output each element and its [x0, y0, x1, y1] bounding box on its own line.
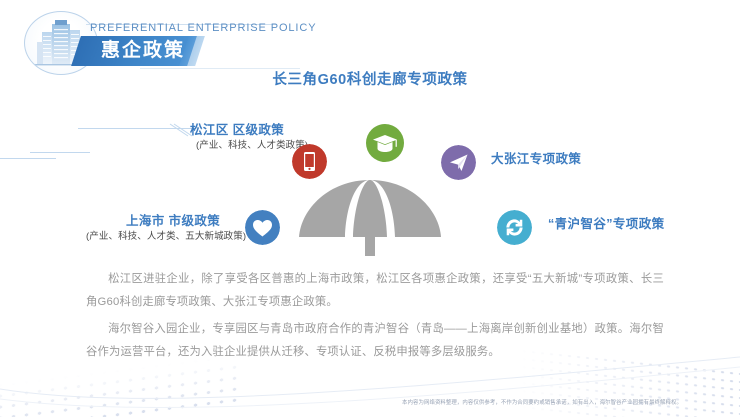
body-paragraph-2: 海尔智谷入园企业，专享园区与青岛市政府合作的青沪智谷（青岛——上海离岸创新创业基…: [86, 318, 664, 364]
decor-line-3: [0, 158, 56, 159]
body-paragraph-1-text: 松江区进驻企业，除了享受各区普惠的上海市政策，松江区各项惠企政策，还享受“五大新…: [86, 273, 664, 308]
node-qinghu-title: “青沪智谷”专项政策: [548, 213, 665, 232]
header-english-title: PREFERENTIAL ENTERPRISE POLICY: [90, 22, 316, 34]
node-shanghai-subtitle: (产业、科技、人才类、五大新城政策): [86, 228, 246, 242]
decor-line-2: [30, 152, 90, 153]
refresh-cycle-icon[interactable]: [497, 210, 532, 245]
mobile-phone-icon[interactable]: [292, 144, 327, 179]
slide-header: PREFERENTIAL ENTERPRISE POLICY 惠企政策: [0, 0, 740, 76]
header-ribbon-title: 惠企政策: [88, 38, 198, 64]
body-paragraph-1: 松江区进驻企业，除了享受各区普惠的上海市政策，松江区各项惠企政策，还享受“五大新…: [86, 268, 664, 314]
umbrella-icon: [295, 176, 445, 256]
slide-canvas: PREFERENTIAL ENTERPRISE POLICY 惠企政策 长三角G…: [0, 0, 740, 417]
diagram-title: 长三角G60科创走廊专项政策: [0, 68, 740, 89]
graduation-cap-icon[interactable]: [366, 124, 404, 162]
paper-plane-icon[interactable]: [441, 145, 476, 180]
node-songjiang-subtitle: (产业、科技、人才类政策): [196, 137, 308, 151]
node-shanghai-title: 上海市 市级政策: [126, 210, 220, 229]
footer-disclaimer: 本内容为网络资料整理，内容仅供参考，不作为合同要约或销售承诺，如有出入，海尔智谷…: [402, 398, 738, 406]
heart-icon[interactable]: [245, 210, 280, 245]
node-zhangjiang-title: 大张江专项政策: [491, 148, 581, 167]
body-paragraph-2-text: 海尔智谷入园企业，专享园区与青岛市政府合作的青沪智谷（青岛——上海离岸创新创业基…: [86, 323, 664, 358]
node-songjiang-title: 松江区 区级政策: [190, 119, 284, 138]
